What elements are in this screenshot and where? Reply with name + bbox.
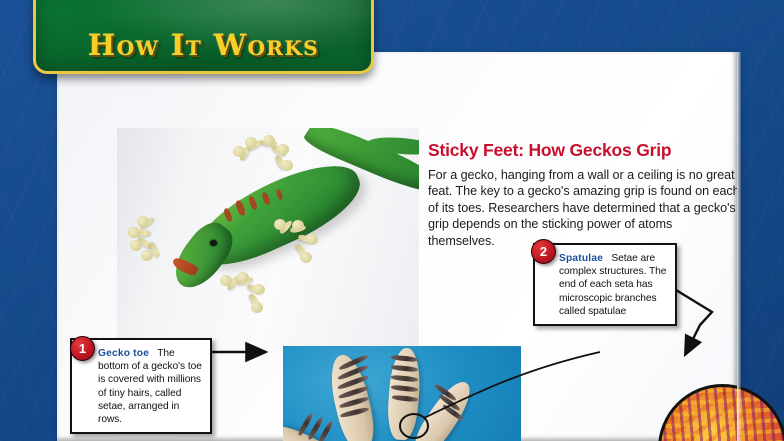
gecko-eye <box>210 240 217 246</box>
callout-label-2: Spatulae <box>559 253 603 264</box>
callout-gecko-toe: 1 Gecko toe The bottom of a gecko's toe … <box>70 338 212 434</box>
callout-badge-1: 1 <box>70 336 95 361</box>
callout-label-1: Gecko toe <box>98 348 149 359</box>
callout-spatulae: 2 Spatulae Setae are complex structures.… <box>533 243 677 326</box>
page-title: Sticky Feet: How Geckos Grip <box>428 140 740 161</box>
banner-title: How It Works <box>88 28 319 62</box>
callout-badge-2: 2 <box>531 239 556 264</box>
article-text-block: Sticky Feet: How Geckos Grip For a gecko… <box>428 140 740 249</box>
how-it-works-banner: How It Works <box>33 0 374 74</box>
article-body-text: For a gecko, hanging from a wall or a ce… <box>428 167 740 249</box>
gecko-photo <box>117 128 419 350</box>
toepad-photo <box>283 346 521 441</box>
callout-text-1: The bottom of a gecko's toe is covered w… <box>98 348 205 425</box>
